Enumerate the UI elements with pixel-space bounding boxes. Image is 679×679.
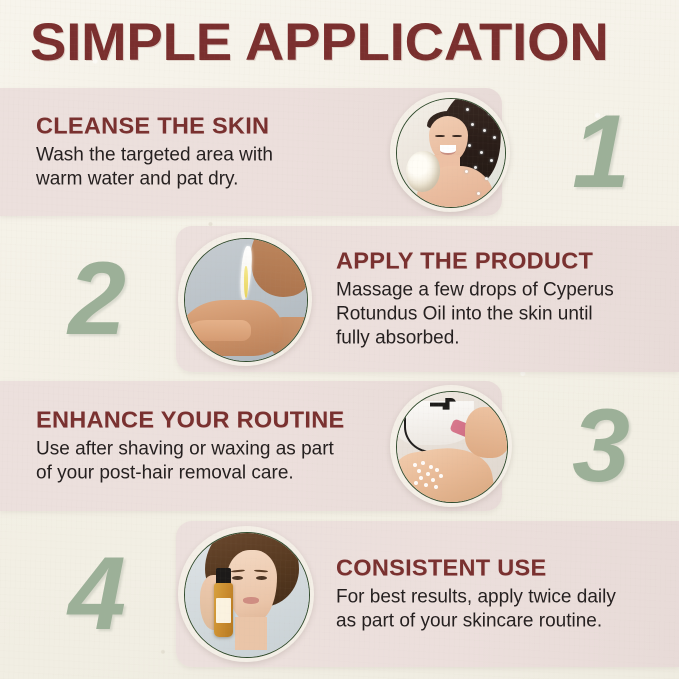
step-4-text: CONSISTENT USE For best results, apply t… [336,555,666,634]
step-3-text: ENHANCE YOUR ROUTINE Use after shaving o… [36,407,381,486]
woman-holding-serum-photo [185,533,309,657]
step-row-1: CLEANSE THE SKIN Wash the targeted area … [0,88,679,216]
step-2-text: APPLY THE PRODUCT Massage a few drops of… [336,248,666,351]
page-title: SIMPLE APPLICATION [30,14,669,72]
woman-showering-photo [397,99,505,207]
step-1-image [390,92,510,212]
step-1-number: 1 [545,100,655,204]
shaving-leg-photo [397,392,507,502]
step-4-image [178,526,314,662]
step-2-number: 2 [26,247,166,351]
step-row-4: 4 CONSISTENT USE F [0,521,679,667]
step-3-image [390,385,512,507]
step-2-body: Massage a few drops of Cyperus Rotundus … [336,279,666,351]
step-1-body: Wash the targeted area with warm water a… [36,144,366,192]
infographic-page: SIMPLE APPLICATION CLEANSE THE SKIN Wash… [0,0,679,679]
step-1-text: CLEANSE THE SKIN Wash the targeted area … [36,113,366,192]
step-3-body: Use after shaving or waxing as part of y… [36,438,381,486]
step-row-2: 2 APPLY THE PRODUCT Massage a few drops … [0,226,679,372]
step-4-number: 4 [26,542,166,646]
step-4-heading: CONSISTENT USE [336,555,666,582]
step-1-heading: CLEANSE THE SKIN [36,113,366,140]
step-2-heading: APPLY THE PRODUCT [336,248,666,275]
step-2-image [178,232,312,366]
step-3-number: 3 [545,394,655,498]
step-4-body: For best results, apply twice daily as p… [336,586,666,634]
step-3-heading: ENHANCE YOUR ROUTINE [36,407,381,434]
step-row-3: ENHANCE YOUR ROUTINE Use after shaving o… [0,381,679,511]
dropper-on-palm-photo [185,239,307,361]
